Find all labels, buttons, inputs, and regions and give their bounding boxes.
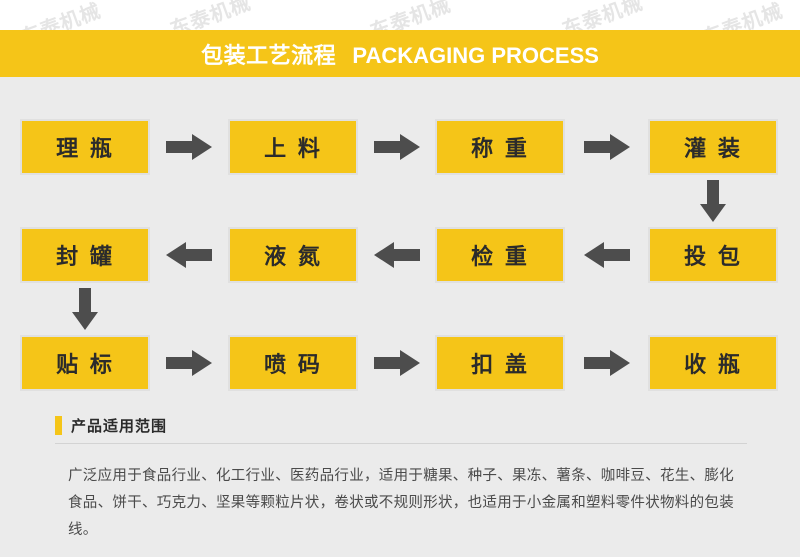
process-node-n10: 喷 码 (228, 335, 358, 391)
process-node-label: 投 包 (684, 239, 742, 271)
arrow-n1-to-n2 (166, 134, 212, 160)
content-panel: 理 瓶上 料称 重灌 装封 罐液 氮检 重投 包贴 标喷 码扣 盖收 瓶 产品适… (0, 77, 800, 557)
section-title: 产品适用范围 (71, 415, 167, 436)
arrow-n5-to-n9 (72, 288, 98, 330)
section-divider (55, 443, 747, 444)
page-title-en: PACKAGING PROCESS (352, 43, 599, 68)
page-title: 包装工艺流程 PACKAGING PROCESS (201, 38, 599, 70)
process-node-n2: 上 料 (228, 119, 358, 175)
process-node-n4: 灌 装 (648, 119, 778, 175)
arrow-n9-to-n10 (166, 350, 212, 376)
process-node-label: 灌 装 (684, 131, 742, 163)
section-accent-bar (55, 416, 62, 435)
process-node-n5: 封 罐 (20, 227, 150, 283)
description-text: 广泛应用于食品行业、化工行业、医药品行业，适用于糖果、种子、果冻、薯条、咖啡豆、… (68, 463, 738, 544)
process-node-label: 称 重 (471, 131, 529, 163)
arrow-n8-to-n7 (584, 242, 630, 268)
page-header: 包装工艺流程 PACKAGING PROCESS (0, 30, 800, 77)
process-node-label: 扣 盖 (471, 347, 529, 379)
arrow-n7-to-n6 (374, 242, 420, 268)
arrow-n10-to-n11 (374, 350, 420, 376)
process-flow-diagram: 理 瓶上 料称 重灌 装封 罐液 氮检 重投 包贴 标喷 码扣 盖收 瓶 (0, 77, 800, 407)
process-node-label: 上 料 (264, 131, 322, 163)
process-node-label: 封 罐 (56, 239, 114, 271)
process-node-n12: 收 瓶 (648, 335, 778, 391)
arrow-n3-to-n4 (584, 134, 630, 160)
arrow-n2-to-n3 (374, 134, 420, 160)
process-node-label: 贴 标 (56, 347, 114, 379)
page-root: 东泰机械东泰机械东泰机械东泰机械东泰机械东泰机械东泰机械东泰机械东泰机械东泰机械… (0, 0, 800, 557)
process-node-label: 收 瓶 (684, 347, 742, 379)
process-node-label: 液 氮 (264, 239, 322, 271)
arrow-n11-to-n12 (584, 350, 630, 376)
process-node-n7: 检 重 (435, 227, 565, 283)
section-heading: 产品适用范围 (55, 415, 167, 436)
process-node-n1: 理 瓶 (20, 119, 150, 175)
process-node-n8: 投 包 (648, 227, 778, 283)
page-title-cn: 包装工艺流程 (201, 44, 336, 69)
process-node-n11: 扣 盖 (435, 335, 565, 391)
process-node-n9: 贴 标 (20, 335, 150, 391)
process-node-label: 喷 码 (264, 347, 322, 379)
process-node-label: 理 瓶 (56, 131, 114, 163)
arrow-n4-to-n8 (700, 180, 726, 222)
arrow-n6-to-n5 (166, 242, 212, 268)
process-node-n6: 液 氮 (228, 227, 358, 283)
process-node-n3: 称 重 (435, 119, 565, 175)
process-node-label: 检 重 (471, 239, 529, 271)
